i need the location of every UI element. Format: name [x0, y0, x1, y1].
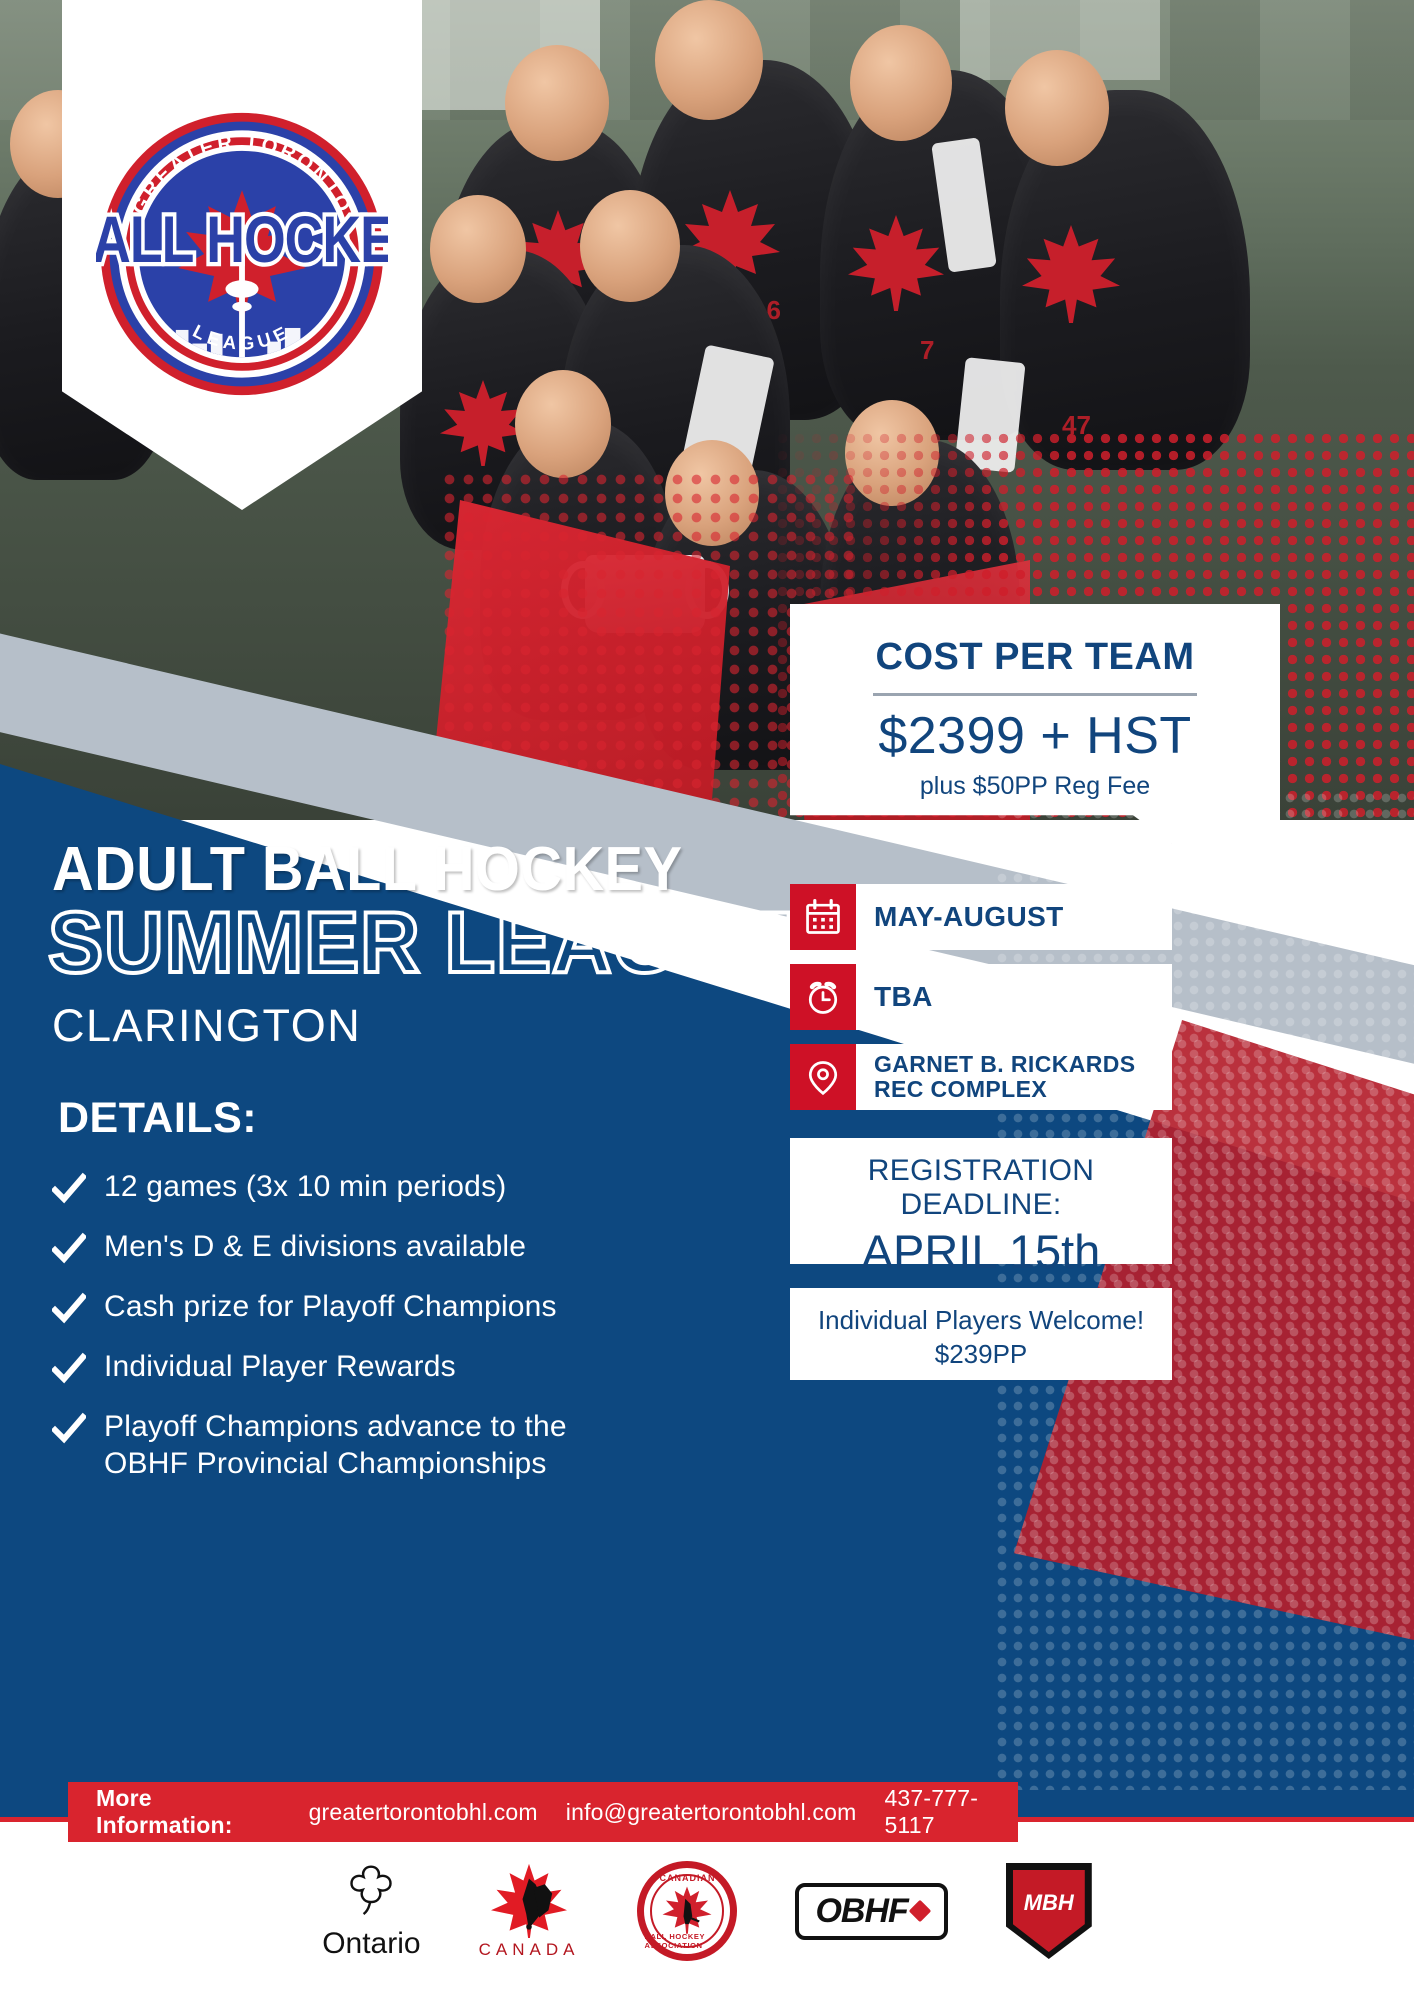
individual-players-card: Individual Players Welcome! $239PP: [790, 1288, 1172, 1380]
calendar-icon: [790, 884, 856, 950]
alarm-clock-icon: [790, 964, 856, 1030]
list-item-label: Individual Player Rewards: [104, 1348, 456, 1385]
contact-website[interactable]: greatertorontobhl.com: [309, 1799, 538, 1826]
hockey-canada-logo: CANADA: [479, 1862, 580, 1960]
obhf-accent-icon: [908, 1900, 931, 1923]
list-item: Individual Player Rewards: [52, 1348, 632, 1386]
contact-label: More Information:: [96, 1785, 281, 1839]
contact-email[interactable]: info@greatertorontobhl.com: [566, 1799, 857, 1826]
check-icon: [52, 1412, 86, 1446]
cost-amount: $2399 + HST: [790, 706, 1280, 766]
headline-line-2: SUMMER LEAGUE: [48, 898, 794, 988]
logo-wordmark: BALL HOCKEY: [96, 203, 388, 276]
info-row-time: TBA: [790, 964, 1172, 1030]
registration-deadline-card: REGISTRATION DEADLINE: APRIL 15th: [790, 1138, 1172, 1264]
mbh-shield-inner: MBH: [1013, 1870, 1085, 1952]
mbh-label: MBH: [1024, 1890, 1074, 1916]
poster-root: 16 7 47: [0, 0, 1414, 2000]
individual-players-line-2: $239PP: [790, 1339, 1172, 1370]
mbh-logo: MBH: [1006, 1863, 1092, 1959]
list-item-label: 12 games (3x 10 min periods): [104, 1168, 506, 1205]
check-icon: [52, 1172, 86, 1206]
player-head-6: [430, 195, 526, 303]
player-head-2: [505, 45, 609, 161]
info-row-label: MAY-AUGUST: [856, 902, 1064, 932]
cbha-bottom-label: BALL HOCKEY ASSOCIATION: [644, 1932, 730, 1950]
player-head-7: [580, 190, 680, 302]
list-item-label: Playoff Champions advance to the OBHF Pr…: [104, 1408, 632, 1482]
canadian-ball-hockey-association-logo: CANADIAN BALL HOCKEY ASSOCIATION: [637, 1861, 737, 1961]
obhf-badge: OBHF: [795, 1883, 947, 1940]
cost-title: COST PER TEAM: [790, 636, 1280, 679]
obhf-logo: OBHF: [795, 1883, 947, 1940]
info-row-location: GARNET B. RICKARDS REC COMPLEX: [790, 1044, 1172, 1110]
sponsor-logos: Ontario CANADA CANADIAN BALL HOCKEY ASSO…: [0, 1846, 1414, 1976]
ontario-trillium-icon: [345, 1861, 397, 1917]
list-item: Men's D & E divisions available: [52, 1228, 632, 1266]
jersey-number-7: 7: [920, 335, 934, 366]
details-heading: DETAILS:: [58, 1094, 257, 1143]
obhf-label: OBHF: [815, 1892, 907, 1931]
list-item: 12 games (3x 10 min periods): [52, 1168, 632, 1206]
info-row-label: TBA: [856, 982, 933, 1012]
deadline-date: APRIL 15th: [790, 1224, 1172, 1279]
list-item: Cash prize for Playoff Champions: [52, 1288, 632, 1326]
cost-per-team-card: COST PER TEAM $2399 + HST plus $50PP Reg…: [790, 604, 1280, 844]
hockey-canada-icon: [487, 1862, 571, 1938]
player-head-5: [1005, 50, 1109, 166]
map-pin-icon: [790, 1044, 856, 1110]
player-head-4: [850, 25, 952, 141]
player-head-8: [515, 370, 611, 478]
league-logo: GREATER TORONTO LEAGUE BALL HOCKEY: [96, 108, 388, 400]
cost-note: plus $50PP Reg Fee: [790, 772, 1280, 801]
deadline-label: REGISTRATION DEADLINE:: [790, 1154, 1172, 1222]
cbha-maple-leaf-icon: [659, 1883, 715, 1939]
list-item-label: Men's D & E divisions available: [104, 1228, 526, 1265]
info-row-dates: MAY-AUGUST: [790, 884, 1172, 950]
cbha-top-label: CANADIAN: [659, 1873, 715, 1883]
details-list: 12 games (3x 10 min periods) Men's D & E…: [52, 1168, 632, 1504]
check-icon: [52, 1352, 86, 1386]
check-icon: [52, 1232, 86, 1266]
cbha-ring: CANADIAN BALL HOCKEY ASSOCIATION: [637, 1861, 737, 1961]
ontario-label: Ontario: [322, 1927, 420, 1961]
list-item-label: Cash prize for Playoff Champions: [104, 1288, 557, 1325]
cost-divider: [873, 693, 1197, 696]
player-head-3: [655, 0, 763, 120]
list-item: Playoff Champions advance to the OBHF Pr…: [52, 1408, 632, 1482]
info-row-label: GARNET B. RICKARDS REC COMPLEX: [856, 1052, 1172, 1102]
ontario-logo: Ontario: [322, 1861, 420, 1961]
mbh-shield: MBH: [1006, 1863, 1092, 1959]
check-icon: [52, 1292, 86, 1326]
hockey-canada-label: CANADA: [479, 1940, 580, 1960]
contact-bar: More Information: greatertorontobhl.com …: [68, 1782, 1018, 1842]
individual-players-line-1: Individual Players Welcome!: [790, 1305, 1172, 1336]
headline-line-3: CLARINGTON: [52, 1000, 361, 1052]
jersey-number-47: 47: [1062, 410, 1091, 441]
contact-phone[interactable]: 437-777-5117: [884, 1785, 1018, 1839]
